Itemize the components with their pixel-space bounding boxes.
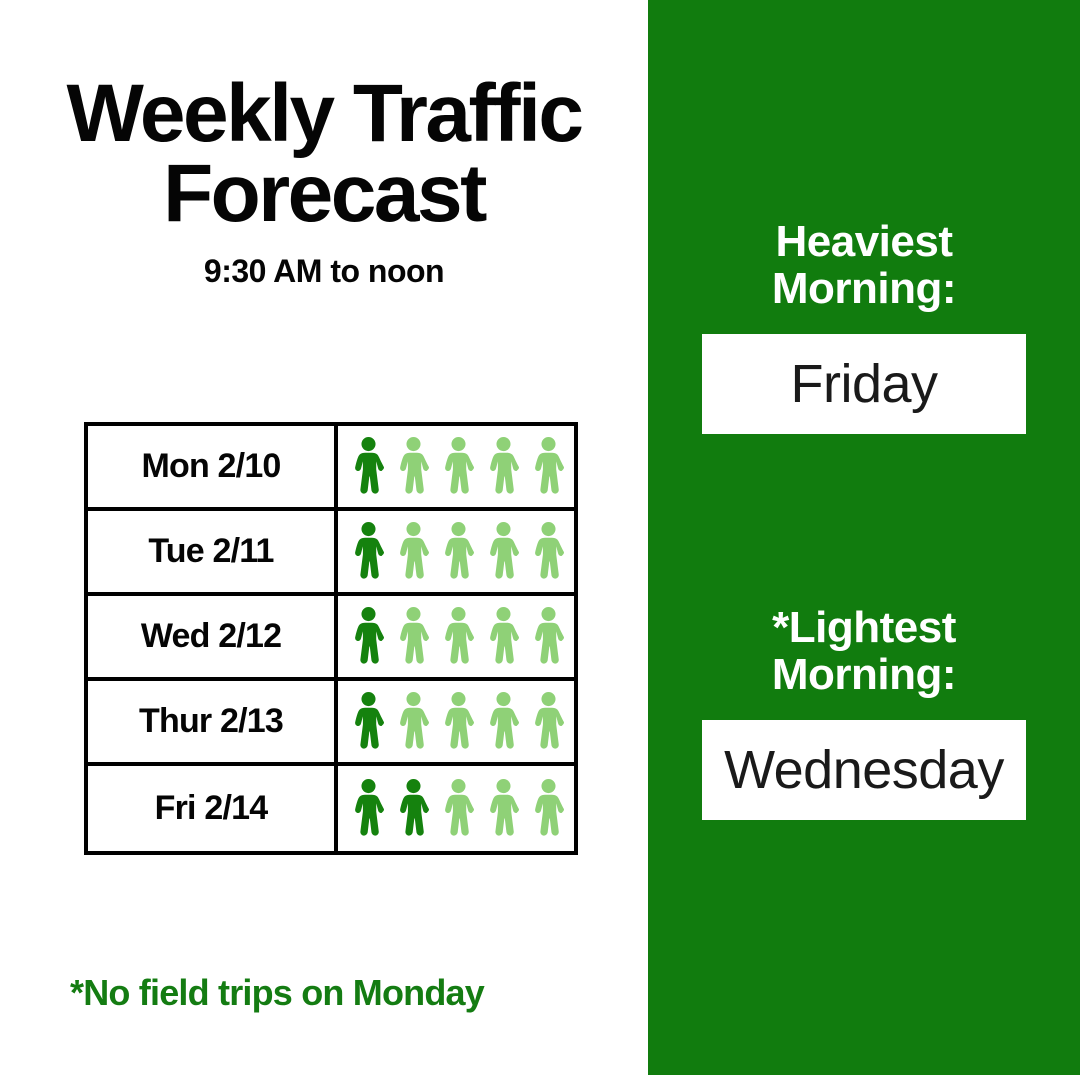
person-icon	[527, 692, 570, 752]
pictogram-cell	[338, 681, 574, 762]
day-label: Wed 2/12	[141, 617, 281, 656]
person-icon	[527, 779, 570, 839]
page-subtitle: 9:30 AM to noon	[0, 253, 648, 290]
heaviest-heading-line-1: Heaviest	[699, 218, 1029, 265]
summary-panel: Heaviest Morning: Friday *Lightest Morni…	[648, 0, 1080, 1075]
day-label: Mon 2/10	[141, 447, 280, 486]
person-icon	[437, 692, 480, 752]
pictogram-cell	[338, 766, 574, 851]
person-icon	[392, 437, 435, 497]
table-row: Fri 2/14	[88, 766, 574, 851]
heaviest-morning-answer-box: Friday	[702, 334, 1026, 434]
title-block: Weekly Traffic Forecast 9:30 AM to noon	[0, 74, 648, 290]
person-icon	[482, 607, 525, 667]
person-icon	[347, 522, 390, 582]
heaviest-morning-heading: Heaviest Morning:	[699, 218, 1029, 312]
pictogram-cell	[338, 596, 574, 677]
person-icon	[437, 437, 480, 497]
day-label: Fri 2/14	[155, 789, 268, 828]
day-label: Tue 2/11	[148, 532, 273, 571]
table-row: Mon 2/10	[88, 426, 574, 511]
title-line-1: Weekly Traffic	[24, 74, 624, 154]
lightest-morning-block: *Lightest Morning: Wednesday	[648, 604, 1080, 820]
heaviest-morning-block: Heaviest Morning: Friday	[648, 218, 1080, 434]
person-icon	[347, 779, 390, 839]
lightest-morning-heading: *Lightest Morning:	[699, 604, 1029, 698]
person-icon	[437, 607, 480, 667]
infographic-canvas: Weekly Traffic Forecast 9:30 AM to noon …	[0, 0, 1080, 1080]
person-icon	[482, 437, 525, 497]
person-icon	[437, 779, 480, 839]
day-label-cell: Tue 2/11	[88, 511, 338, 592]
person-icon	[437, 522, 480, 582]
table-row: Tue 2/11	[88, 511, 574, 596]
person-icon	[527, 522, 570, 582]
person-icon	[347, 437, 390, 497]
lightest-morning-answer: Wednesday	[724, 743, 1004, 797]
person-icon	[347, 607, 390, 667]
heaviest-heading-line-2: Morning:	[699, 265, 1029, 312]
pictogram-cell	[338, 511, 574, 592]
person-icon	[392, 692, 435, 752]
person-icon	[482, 522, 525, 582]
person-icon	[482, 692, 525, 752]
table-row: Thur 2/13	[88, 681, 574, 766]
person-icon	[527, 437, 570, 497]
table-row: Wed 2/12	[88, 596, 574, 681]
page-title: Weekly Traffic Forecast	[24, 74, 624, 235]
forecast-table: Mon 2/10Tue 2/11Wed 2/12Thur 2/13Fri 2/1…	[84, 422, 578, 855]
day-label-cell: Thur 2/13	[88, 681, 338, 762]
pictogram-cell	[338, 426, 574, 507]
day-label: Thur 2/13	[139, 702, 283, 741]
person-icon	[527, 607, 570, 667]
person-icon	[482, 779, 525, 839]
person-icon	[347, 692, 390, 752]
lightest-morning-answer-box: Wednesday	[702, 720, 1026, 820]
lightest-heading-line-1: *Lightest	[699, 604, 1029, 651]
day-label-cell: Mon 2/10	[88, 426, 338, 507]
lightest-heading-line-2: Morning:	[699, 651, 1029, 698]
person-icon	[392, 779, 435, 839]
footnote-monday: *No field trips on Monday	[70, 972, 484, 1014]
day-label-cell: Wed 2/12	[88, 596, 338, 677]
person-icon	[392, 522, 435, 582]
title-line-2: Forecast	[24, 154, 624, 234]
person-icon	[392, 607, 435, 667]
day-label-cell: Fri 2/14	[88, 766, 338, 851]
heaviest-morning-answer: Friday	[790, 357, 937, 411]
